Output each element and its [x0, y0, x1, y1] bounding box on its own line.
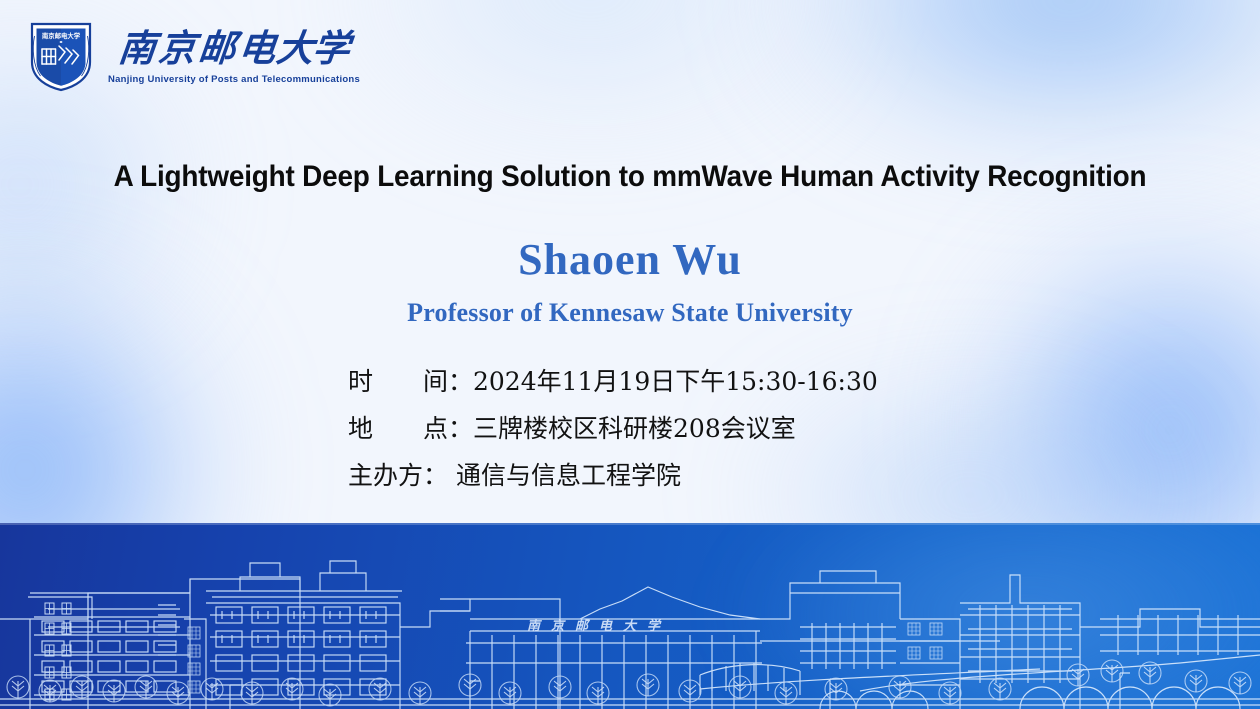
talk-title: A Lightweight Deep Learning Solution to … — [44, 160, 1216, 194]
detail-time: 时 间：2024年11月19日下午15:30-16:30 — [330, 358, 930, 405]
speaker-affiliation: Professor of Kennesaw State University — [0, 298, 1260, 328]
svg-text:学: 学 — [310, 26, 356, 70]
detail-organizer: 主办方： 通信与信息工程学院 — [330, 452, 930, 499]
nupt-shield-crest-icon: 南京邮电大学 — [28, 18, 94, 92]
poster-content: A Lightweight Deep Learning Solution to … — [0, 0, 1260, 709]
svg-text:南京邮电大学: 南京邮电大学 — [42, 31, 81, 40]
chinese-calligraphy-wordmark-icon: 南 京 邮 电 大 学 — [104, 25, 360, 73]
speaker-name: Shaoen Wu — [0, 234, 1260, 285]
seminar-poster: 南京邮电大学 南 京 邮 电 大 — [0, 0, 1260, 709]
event-details: 时 间：2024年11月19日下午15:30-16:30 地 点：三牌楼校区科研… — [0, 358, 1260, 499]
university-logo: 南京邮电大学 南 京 邮 电 大 — [28, 18, 360, 92]
detail-location: 地 点：三牌楼校区科研楼208会议室 — [330, 405, 930, 452]
university-wordmark: 南 京 邮 电 大 学 Nanjing University of Posts … — [104, 25, 360, 85]
university-wordmark-english: Nanjing University of Posts and Telecomm… — [104, 74, 360, 85]
